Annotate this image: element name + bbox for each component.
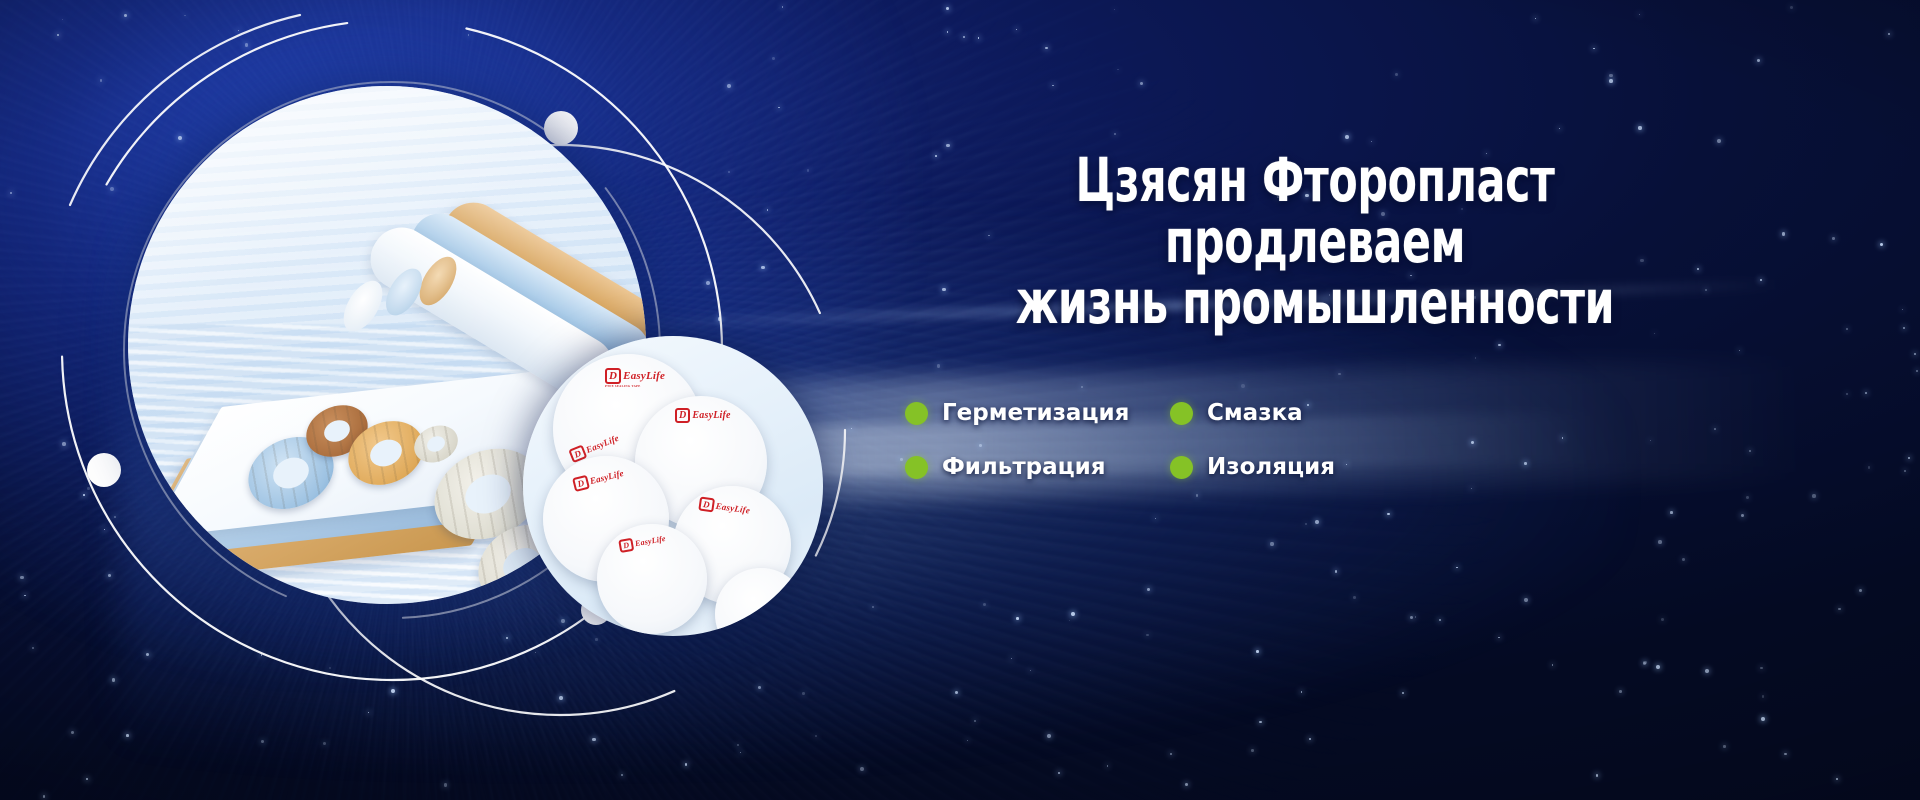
branded-gasket-5: DEasyLife — [597, 524, 707, 634]
headline-line-3: жизнь промышленности — [927, 272, 1704, 333]
feature-item-filtration: Фильтрация — [905, 454, 1170, 480]
brand-logo-6: DEasyLife — [618, 532, 666, 553]
feature-item-lubrication: Смазка — [1170, 400, 1375, 426]
feature-item-insulation: Изоляция — [1170, 454, 1375, 480]
hero-banner: DEasyLifePTFE SEALING TAPE DEasyLife DEa… — [0, 0, 1920, 800]
feature-label: Фильтрация — [942, 454, 1106, 480]
product-photo-secondary: DEasyLifePTFE SEALING TAPE DEasyLife DEa… — [523, 336, 823, 636]
headline-line-1: Цзясян Фторопласт — [927, 150, 1704, 211]
brand-logo-3: DEasyLife — [675, 408, 731, 423]
orbit-node-left — [87, 453, 121, 487]
bullet-dot-icon — [905, 456, 928, 479]
feature-item-sealing: Герметизация — [905, 400, 1170, 426]
feature-list: Герметизация Смазка Фильтрация Изоляция — [905, 400, 1375, 480]
brand-logo-5: DEasyLife — [698, 496, 751, 517]
feature-label: Изоляция — [1207, 454, 1335, 480]
bullet-dot-icon — [1170, 456, 1193, 479]
headline-block: Цзясян Фторопласт продлеваем жизнь промы… — [760, 150, 1870, 333]
bullet-dot-icon — [905, 402, 928, 425]
feature-label: Смазка — [1207, 400, 1303, 426]
feature-label: Герметизация — [942, 400, 1129, 426]
bullet-dot-icon — [1170, 402, 1193, 425]
brand-logo-4: DEasyLife — [572, 466, 625, 492]
headline-line-2: продлеваем — [927, 211, 1704, 272]
brand-logo-1: DEasyLifePTFE SEALING TAPE — [605, 368, 665, 388]
page-title: Цзясян Фторопласт продлеваем жизнь промы… — [927, 150, 1704, 333]
